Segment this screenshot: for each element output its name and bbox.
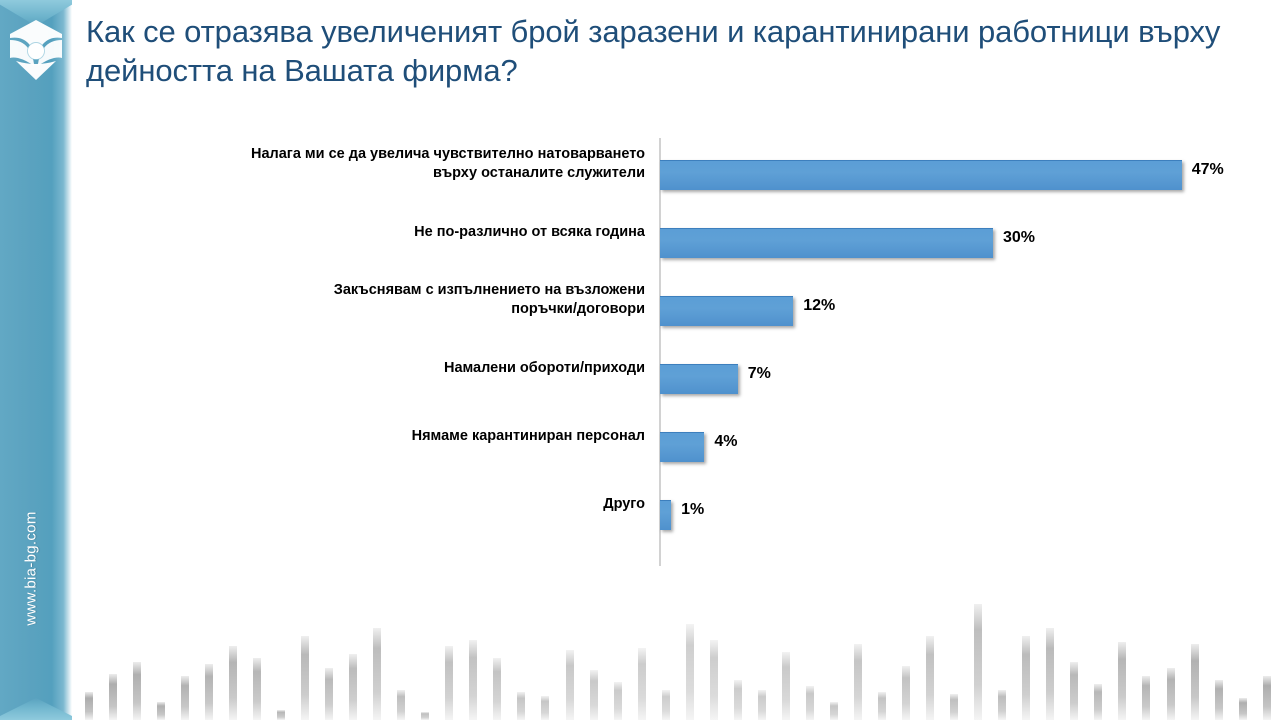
decor-bar xyxy=(469,640,477,720)
chart-category-label: Не по-различно от всяка година xyxy=(120,223,645,242)
decor-bar xyxy=(301,636,309,720)
chart-bar xyxy=(660,364,738,394)
chart-bar xyxy=(660,432,704,462)
decor-bar xyxy=(902,666,910,720)
decor-bar xyxy=(590,670,598,720)
decor-bar xyxy=(85,692,93,720)
chart-bar-value-label: 7% xyxy=(748,365,771,383)
decor-bar xyxy=(493,658,501,720)
site-url-label: www.bia-bg.com xyxy=(23,484,40,654)
chart-row: Нямаме карантиниран персонал4% xyxy=(120,408,1230,476)
decor-bar xyxy=(734,680,742,720)
decor-bar xyxy=(181,676,189,720)
chart-row: Закъснявам с изпълнението на възложенипо… xyxy=(120,272,1230,340)
decor-bar xyxy=(1118,642,1126,720)
decor-bar xyxy=(950,694,958,720)
chart-bar-value-label: 1% xyxy=(681,501,704,519)
decor-bar xyxy=(1263,676,1271,720)
decor-bar xyxy=(253,658,261,720)
decor-bar xyxy=(1142,676,1150,720)
chart-category-label: Налага ми се да увелича чувствително нат… xyxy=(120,145,645,182)
decor-bar xyxy=(1094,684,1102,720)
decor-bar xyxy=(1215,680,1223,720)
chart-row: Не по-различно от всяка година30% xyxy=(120,204,1230,272)
chart-category-label: Закъснявам с изпълнението на възложенипо… xyxy=(120,281,645,318)
decor-bar xyxy=(133,662,141,720)
decor-bar xyxy=(517,692,525,720)
decor-bar xyxy=(205,664,213,720)
bar-chart: Налага ми се да увелича чувствително нат… xyxy=(120,136,1230,568)
decor-bar xyxy=(782,652,790,720)
decor-bar xyxy=(806,686,814,720)
decor-bar xyxy=(926,636,934,720)
bottom-bar-pattern xyxy=(78,592,1280,720)
decor-bar xyxy=(974,604,982,720)
chart-row: Намалени обороти/приходи7% xyxy=(120,340,1230,408)
decor-bar xyxy=(373,628,381,720)
decor-bar xyxy=(421,712,429,720)
decor-bar xyxy=(397,690,405,720)
chart-category-label: Нямаме карантиниран персонал xyxy=(120,427,645,446)
decor-bar xyxy=(1046,628,1054,720)
chart-row: Налага ми се да увелича чувствително нат… xyxy=(120,136,1230,204)
decor-bar xyxy=(1239,698,1247,720)
decor-bar xyxy=(277,710,285,720)
decor-bar xyxy=(566,650,574,720)
decor-bar xyxy=(878,692,886,720)
decor-bar xyxy=(638,648,646,720)
decor-bar xyxy=(349,654,357,720)
brand-sidebar: www.bia-bg.com xyxy=(0,0,72,720)
chart-category-label: Друго xyxy=(120,495,645,514)
chart-bar-value-label: 30% xyxy=(1003,229,1035,247)
sidebar-bottom-chevron xyxy=(0,698,72,720)
decor-bar xyxy=(445,646,453,720)
decor-bar xyxy=(998,690,1006,720)
decor-bar xyxy=(229,646,237,720)
chart-bar xyxy=(660,500,671,530)
decor-bar xyxy=(1022,636,1030,720)
chart-category-label: Намалени обороти/приходи xyxy=(120,359,645,378)
decor-bar xyxy=(854,644,862,720)
decor-bar xyxy=(541,696,549,720)
decor-bar xyxy=(662,690,670,720)
decor-bar xyxy=(830,702,838,720)
decor-bar xyxy=(1191,644,1199,720)
chart-bar-value-label: 4% xyxy=(714,433,737,451)
decor-bar xyxy=(1167,668,1175,720)
chart-bar-value-label: 47% xyxy=(1192,161,1224,179)
decor-bar xyxy=(758,690,766,720)
chart-bar xyxy=(660,160,1182,190)
chart-bar-value-label: 12% xyxy=(803,297,835,315)
decor-bar xyxy=(686,624,694,720)
decor-bar xyxy=(1070,662,1078,720)
bia-hexagon-logo-icon xyxy=(4,14,68,86)
decor-bar xyxy=(157,702,165,720)
chart-row: Друго1% xyxy=(120,476,1230,544)
chart-bar xyxy=(660,296,793,326)
decor-bar xyxy=(325,668,333,720)
page-title: Как се отразява увеличеният брой заразен… xyxy=(86,12,1236,91)
decor-bar xyxy=(614,682,622,720)
decor-bar xyxy=(710,640,718,720)
decor-bar xyxy=(109,674,117,720)
chart-bar xyxy=(660,228,993,258)
